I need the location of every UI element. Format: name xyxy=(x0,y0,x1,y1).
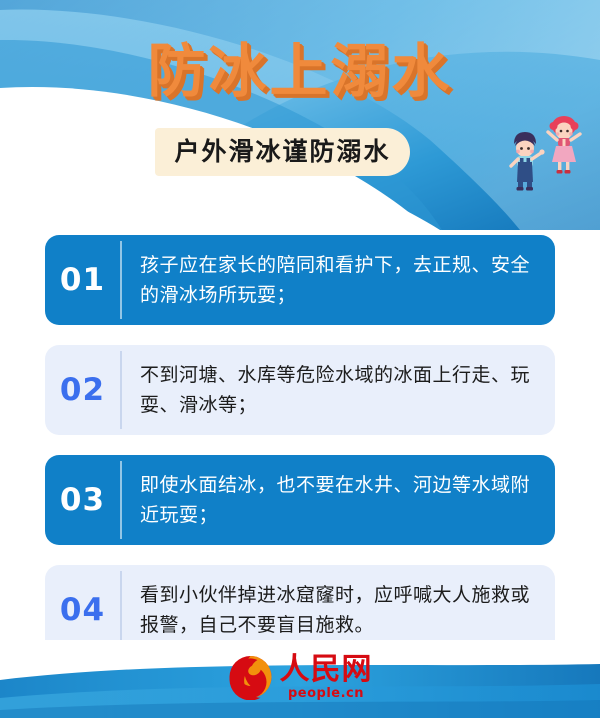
logo-chinese-name: 人民网 xyxy=(280,655,373,685)
list-item-number: 02 xyxy=(45,372,120,408)
list-item: 03 即使水面结冰，也不要在水井、河边等水域附近玩耍； xyxy=(45,455,555,545)
girl-figure xyxy=(548,116,580,174)
people-cn-logo-text: 人民网 people.cn xyxy=(280,655,373,700)
list-item-number: 03 xyxy=(45,482,120,518)
people-cn-logo: 人民网 people.cn xyxy=(228,654,373,700)
list-item-text: 看到小伙伴掉进冰窟窿时，应呼喊大人施救或报警，自己不要盲目施救。 xyxy=(122,580,555,640)
list-item: 02 不到河塘、水库等危险水域的冰面上行走、玩耍、滑冰等； xyxy=(45,345,555,435)
list-item: 01 孩子应在家长的陪同和看护下，去正规、安全的滑冰场所玩耍； xyxy=(45,235,555,325)
page-subtitle: 户外滑冰谨防溺水 xyxy=(155,128,410,176)
header-banner: 防冰上溺水 户外滑冰谨防溺水 xyxy=(0,0,600,230)
list-item-number: 01 xyxy=(45,262,120,298)
tips-list: 01 孩子应在家长的陪同和看护下，去正规、安全的滑冰场所玩耍； 02 不到河塘、… xyxy=(45,235,555,675)
footer-banner: 人民网 people.cn xyxy=(0,640,600,718)
page-title: 防冰上溺水 xyxy=(0,24,600,108)
mascot-children-illustration xyxy=(500,112,592,192)
list-item-text: 不到河塘、水库等危险水域的冰面上行走、玩耍、滑冰等； xyxy=(122,360,555,420)
people-cn-logo-icon xyxy=(228,654,274,700)
list-item-text: 即使水面结冰，也不要在水井、河边等水域附近玩耍； xyxy=(122,470,555,530)
boy-figure xyxy=(511,132,545,191)
logo-english-name: people.cn xyxy=(288,687,364,700)
list-item-number: 04 xyxy=(45,592,120,628)
list-item-text: 孩子应在家长的陪同和看护下，去正规、安全的滑冰场所玩耍； xyxy=(122,250,555,310)
poster-root: 防冰上溺水 户外滑冰谨防溺水 xyxy=(0,0,600,718)
